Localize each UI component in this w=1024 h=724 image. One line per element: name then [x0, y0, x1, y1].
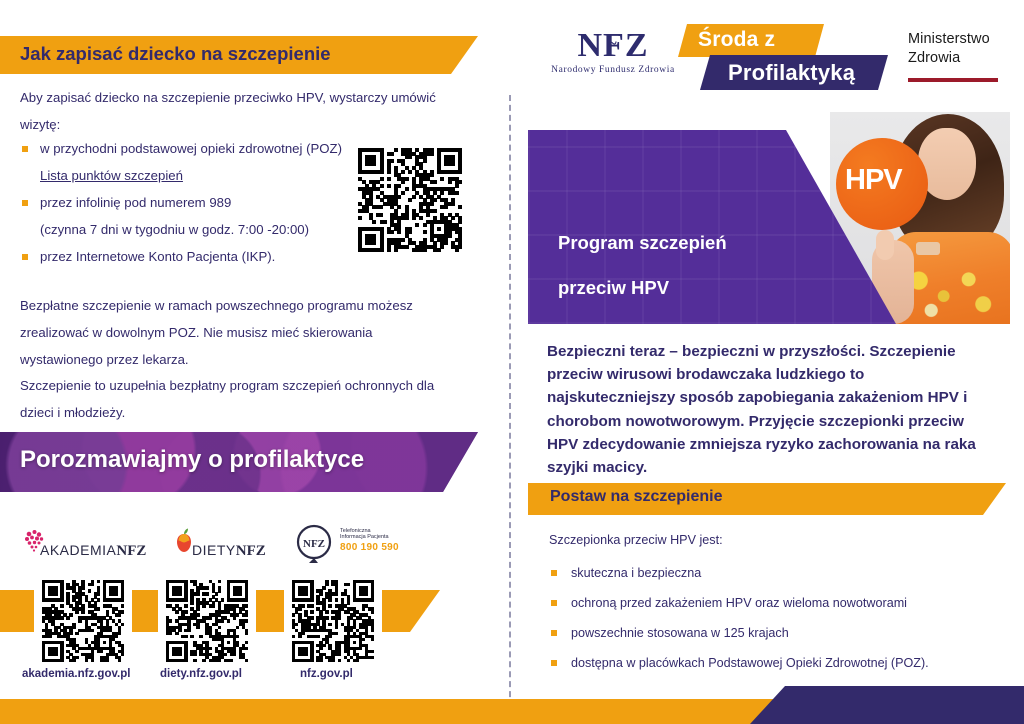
enroll-options-list: w przychodni podstawowej opieki zdrowotn…	[20, 135, 350, 270]
ministry-line-1: Ministerstwo	[908, 30, 1018, 49]
vaccine-benefit-item: powszechnie stosowana w 125 krajach	[549, 618, 989, 648]
section-heading-postaw: Postaw na szczepienie	[528, 483, 1006, 515]
akademia-nfz-mark: NFZ	[116, 543, 146, 559]
diety-nfz-logo[interactable]: DIETYNFZ	[172, 528, 196, 559]
svg-text:NFZ: NFZ	[303, 538, 325, 550]
akademia-nfz-label: AKADEMIA	[40, 542, 116, 558]
banner-title-line1: Program szczepień	[558, 220, 727, 265]
qr-caption-nfz[interactable]: nfz.gov.pl	[300, 668, 353, 680]
vaccine-benefits-list: skuteczna i bezpiecznaochroną przed zaka…	[549, 558, 989, 678]
nfz-logo: NFZ~ Narodowy Fundusz Zdrowia	[548, 28, 678, 75]
vaccine-benefit-item: dostępna w placówkach Podstawowej Opieki…	[549, 648, 989, 678]
vaccine-benefit-item: ochroną przed zakażeniem HPV oraz wielom…	[549, 588, 989, 618]
supplement-paragraph: Szczepienie to uzupełnia bezpłatny progr…	[20, 372, 440, 426]
tip-nfz-logo[interactable]: NFZ Telefoniczna Informacja Pacjenta 800…	[290, 522, 338, 569]
hpv-lead-paragraph: Bezpieczni teraz – bezpieczni w przyszło…	[547, 340, 993, 479]
banner-title-line2: przeciw HPV	[558, 265, 727, 310]
free-vaccination-paragraph: Bezpłatne szczepienie w ramach powszechn…	[20, 292, 440, 373]
enroll-option-item[interactable]: Lista punktów szczepień	[20, 162, 350, 189]
tip-phone-number: 800 190 590	[340, 542, 399, 553]
banner-title: Program szczepień przeciw HPV	[558, 220, 727, 310]
qr-caption-diety[interactable]: diety.nfz.gov.pl	[160, 668, 242, 680]
campaign-badge-bottom: Profilaktyką	[700, 55, 888, 90]
campaign-badge: Środa z Profilaktyką	[668, 24, 888, 90]
enroll-option-item: (czynna 7 dni w tygodniu w godz. 7:00 -2…	[20, 216, 350, 243]
lista-punktow-link[interactable]: Lista punktów szczepień	[40, 168, 183, 183]
arm-plaster	[916, 242, 940, 255]
section-heading-postaw-text: Postaw na szczepienie	[550, 488, 723, 506]
enroll-intro-text: Aby zapisać dziecko na szczepienie przec…	[20, 84, 460, 138]
phone-circle-icon: NFZ	[290, 522, 338, 564]
section-heading-prevention: Porozmawiajmy o profilaktyce	[0, 432, 478, 492]
hpv-badge-icon: HPV	[836, 138, 928, 230]
tip-line-2: Informacja Pacjenta	[340, 534, 399, 540]
enroll-option-item: przez Internetowe Konto Pacjenta (IKP).	[20, 243, 350, 270]
column-divider	[509, 95, 511, 707]
footer-orange-band	[0, 699, 790, 724]
qr-code-akademia[interactable]	[42, 580, 124, 662]
section-heading-prevention-text: Porozmawiajmy o profilaktyce	[20, 446, 364, 474]
enroll-option-item: w przychodni podstawowej opieki zdrowotn…	[20, 135, 350, 162]
ministry-line-2: Zdrowia	[908, 49, 1018, 68]
campaign-badge-line1: Środa z	[698, 28, 775, 52]
section-heading-enroll-text: Jak zapisać dziecko na szczepienie	[20, 43, 331, 65]
hpv-program-banner: HPV Program szczepień przeciw HPV	[528, 112, 1010, 324]
campaign-badge-top: Środa z	[678, 24, 824, 57]
ministry-red-rule	[908, 78, 998, 82]
partner-logos: AKADEMIANFZ DIETYNFZ NFZ Telefoniczna In…	[0, 522, 500, 568]
hpv-badge-text: HPV	[845, 164, 902, 197]
ministry-of-health-logo: Ministerstwo Zdrowia	[908, 30, 1018, 82]
vaccine-intro-text: Szczepionka przeciw HPV jest:	[549, 529, 979, 551]
diety-nfz-mark: NFZ	[236, 543, 266, 559]
qr-code-diety[interactable]	[166, 580, 248, 662]
enroll-option-item: przez infolinię pod numerem 989	[20, 189, 350, 216]
campaign-badge-line2: Profilaktyką	[728, 60, 855, 86]
nfz-logo-subtitle: Narodowy Fundusz Zdrowia	[548, 65, 678, 75]
girl-shirt-pattern	[900, 262, 1004, 324]
diety-nfz-label: DIETY	[192, 542, 236, 558]
nfz-logo-mark: NFZ~	[578, 28, 649, 64]
qr-code-lista-punktow[interactable]	[358, 148, 462, 252]
girl-thumb-up	[876, 230, 894, 260]
akademia-nfz-logo[interactable]: AKADEMIANFZ	[22, 528, 48, 559]
nfz-logo-tilde: ~	[608, 26, 617, 62]
section-heading-enroll: Jak zapisać dziecko na szczepienie	[0, 36, 478, 74]
vaccine-benefit-item: skuteczna i bezpieczna	[549, 558, 989, 588]
qr-caption-akademia[interactable]: akademia.nfz.gov.pl	[22, 668, 130, 680]
qr-code-nfz[interactable]	[292, 580, 374, 662]
